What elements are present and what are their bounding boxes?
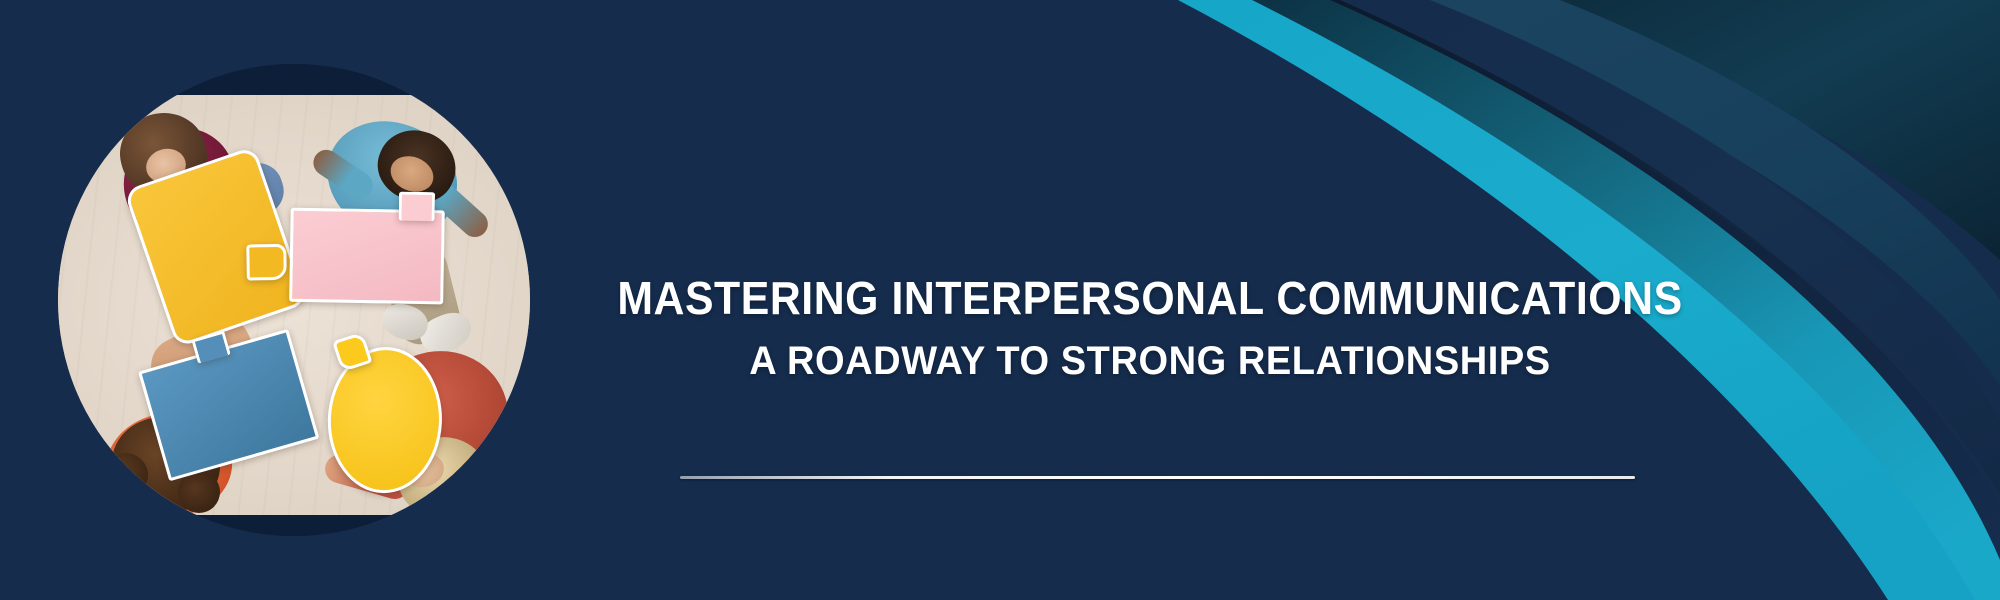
page-subtitle: A ROADWAY TO STRONG RELATIONSHIPS [590, 336, 1711, 386]
card-tail [399, 192, 436, 222]
yellow-speech-bubble-bottom-right [326, 345, 439, 489]
headline-block: MASTERING INTERPERSONAL COMMUNICATIONS A… [560, 270, 1740, 386]
card-tail [246, 244, 287, 281]
photo-top-shade [58, 64, 530, 95]
photo-rect-crop [58, 95, 530, 515]
pink-speech-bubble-top-right [289, 208, 439, 299]
photo-circle-mask [58, 64, 530, 536]
hero-photo [58, 64, 530, 536]
page-title: MASTERING INTERPERSONAL COMMUNICATIONS [601, 270, 1698, 326]
hair-curl [178, 471, 220, 513]
wooden-floor-background [58, 95, 530, 515]
photo-bottom-shade [58, 515, 530, 536]
hair-curl [102, 453, 148, 497]
card-body [289, 208, 445, 305]
banner-root: MASTERING INTERPERSONAL COMMUNICATIONS A… [0, 0, 2000, 600]
divider-rule [680, 476, 1635, 479]
